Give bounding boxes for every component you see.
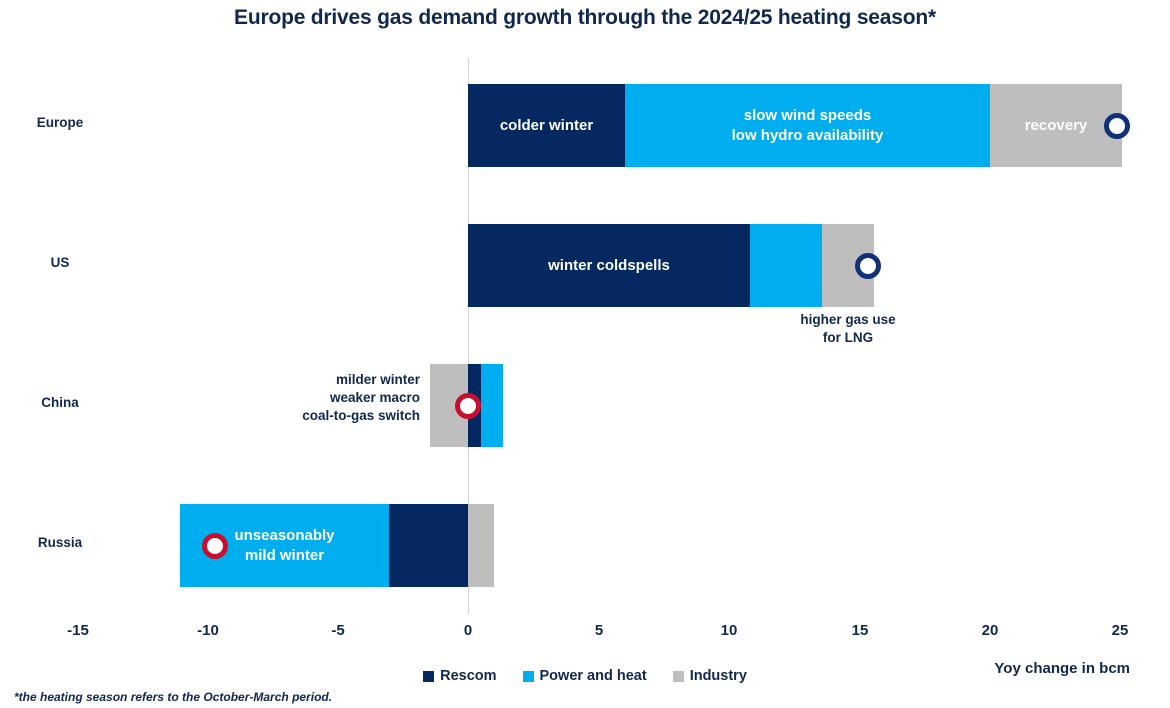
- annotation-us-lng-line2: for LNG: [823, 330, 873, 345]
- annotation-us-lng-line1: higher gas use: [800, 312, 895, 327]
- bar-label-europe-power-line1: slow wind speeds: [744, 107, 872, 124]
- x-tick-5: 5: [569, 622, 629, 639]
- x-tick-25: 25: [1090, 622, 1150, 639]
- bar-label-us-rescom: winter coldspells: [548, 256, 670, 276]
- chart-title: Europe drives gas demand growth through …: [0, 0, 1170, 33]
- x-axis: -15 -10 -5 0 5 10 15 20 25: [0, 622, 1170, 644]
- legend-label-industry: Industry: [690, 668, 747, 684]
- x-tick-0: 0: [438, 622, 498, 639]
- x-tick-20: 20: [960, 622, 1020, 639]
- bar-label-russia-line1: unseasonably: [234, 527, 334, 544]
- bar-segment-us-rescom[interactable]: winter coldspells: [468, 224, 750, 307]
- x-tick-10: 10: [699, 622, 759, 639]
- bar-segment-russia-rescom[interactable]: [389, 504, 468, 587]
- bar-label-europe-rescom: colder winter: [500, 116, 593, 136]
- bar-row-us: winter coldspells: [0, 224, 1170, 307]
- x-tick-15: 15: [830, 622, 890, 639]
- legend-swatch-rescom: [423, 671, 434, 682]
- bar-row-russia: unseasonablymild winter: [0, 504, 1170, 587]
- bar-label-europe-industry: recovery: [1025, 116, 1088, 136]
- legend-swatch-industry: [673, 671, 684, 682]
- legend-label-power-and-heat: Power and heat: [540, 668, 647, 684]
- bar-segment-europe-industry[interactable]: recovery: [990, 84, 1122, 167]
- bar-label-europe-power: slow wind speedslow hydro availability: [732, 106, 884, 146]
- marker-total-us: [855, 253, 881, 279]
- x-tick--5: -5: [308, 622, 368, 639]
- bar-segment-us-power[interactable]: [750, 224, 822, 307]
- legend-label-rescom: Rescom: [440, 668, 496, 684]
- legend: Rescom Power and heat Industry: [0, 668, 1170, 684]
- marker-total-china: [455, 393, 481, 419]
- bar-segment-europe-power[interactable]: slow wind speedslow hydro availability: [625, 84, 990, 167]
- annotation-china: milder winter weaker macro coal-to-gas s…: [160, 371, 420, 425]
- bar-label-russia-line2: mild winter: [245, 547, 324, 564]
- bar-label-europe-power-line2: low hydro availability: [732, 127, 884, 144]
- marker-total-russia: [202, 533, 228, 559]
- legend-item-rescom[interactable]: Rescom: [423, 668, 496, 684]
- x-tick--10: -10: [178, 622, 238, 639]
- legend-item-power-and-heat[interactable]: Power and heat: [523, 668, 647, 684]
- annotation-china-line1: milder winter: [336, 372, 420, 387]
- annotation-us-lng: higher gas use for LNG: [748, 311, 948, 347]
- bar-label-russia-power: unseasonablymild winter: [234, 526, 334, 566]
- bar-segment-russia-industry[interactable]: [468, 504, 494, 587]
- footnote: *the heating season refers to the Octobe…: [14, 690, 332, 704]
- legend-swatch-power-and-heat: [523, 671, 534, 682]
- bar-segment-china-power[interactable]: [481, 364, 503, 447]
- annotation-china-line2: weaker macro: [330, 390, 420, 405]
- x-tick--15: -15: [48, 622, 108, 639]
- bar-segment-europe-rescom[interactable]: colder winter: [468, 84, 625, 167]
- marker-total-europe: [1104, 113, 1130, 139]
- bar-row-europe: colder winter slow wind speedslow hydro …: [0, 84, 1170, 167]
- annotation-china-line3: coal-to-gas switch: [302, 408, 420, 423]
- plot-area: Europe colder winter slow wind speedslow…: [0, 58, 1170, 614]
- legend-item-industry[interactable]: Industry: [673, 668, 747, 684]
